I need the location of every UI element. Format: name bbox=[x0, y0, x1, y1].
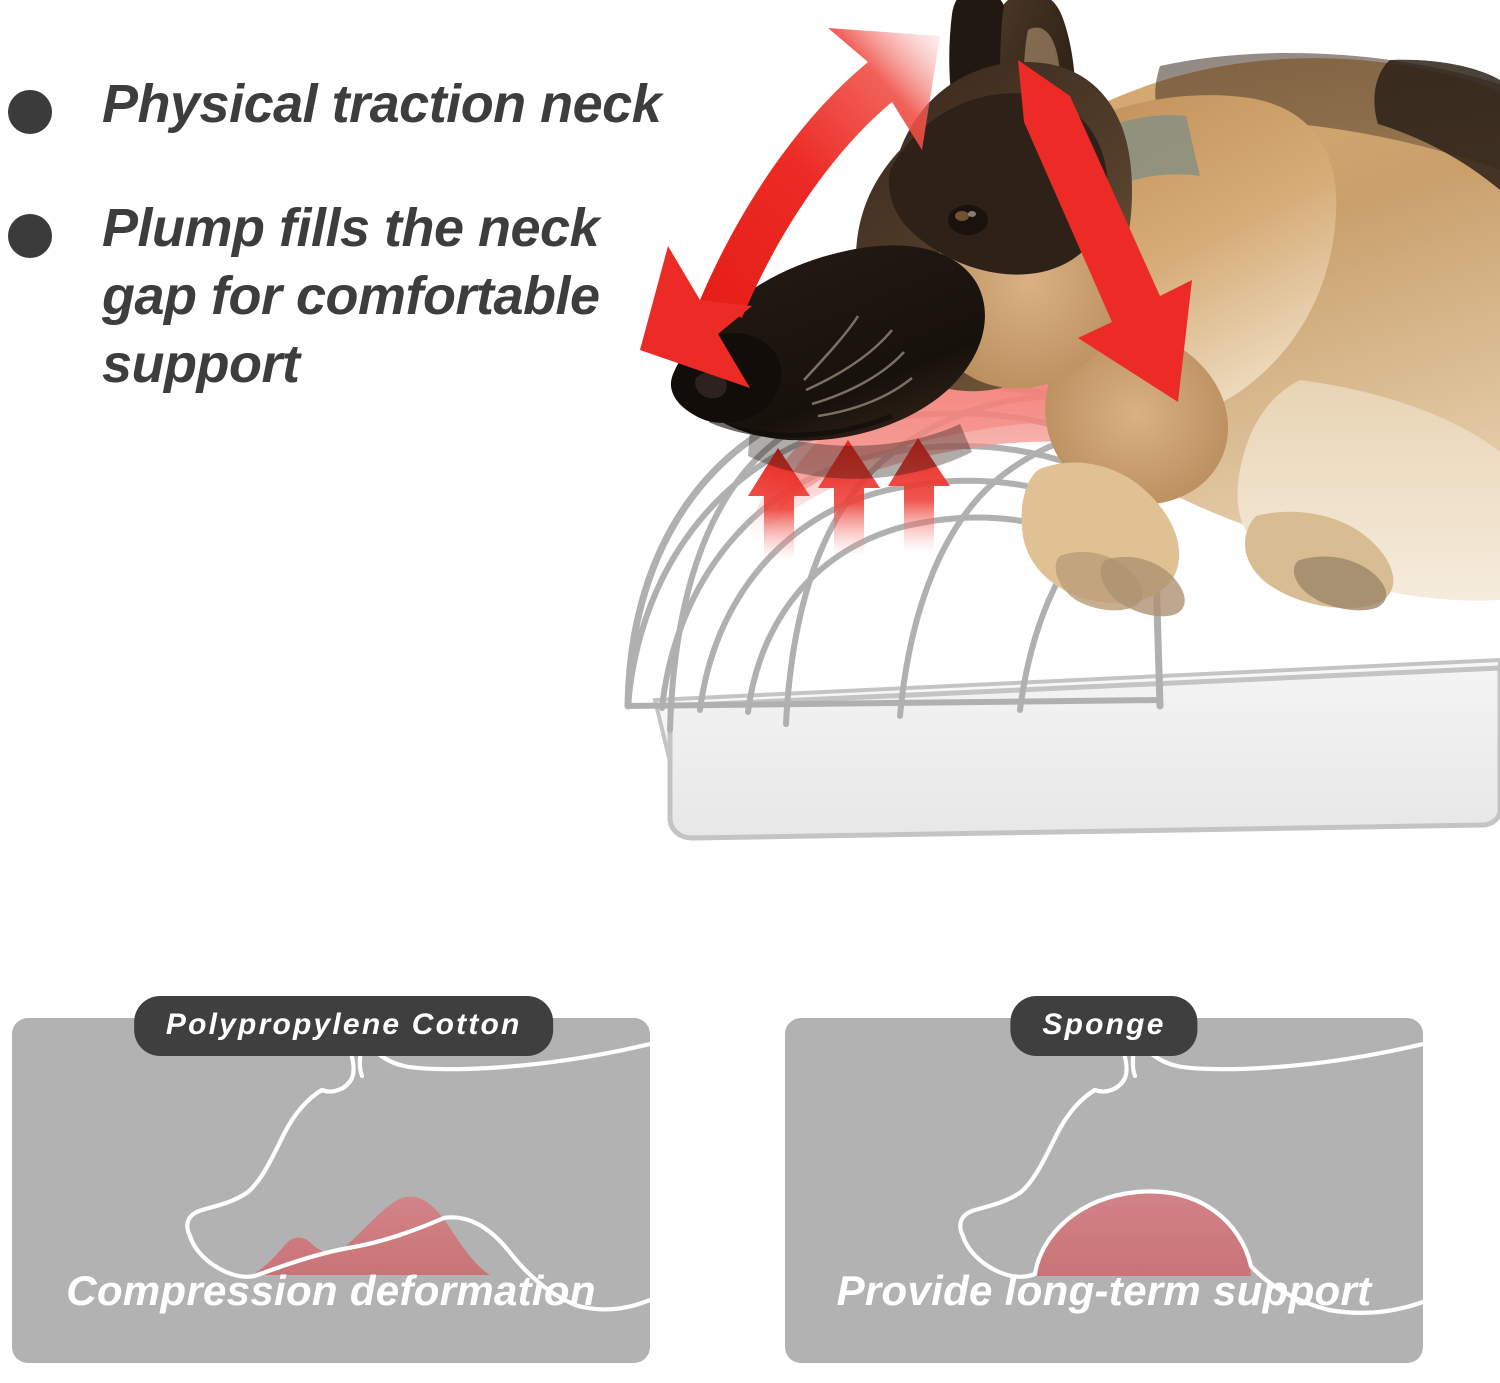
material-comparison-section: Polypropylene Cotton Compression deforma… bbox=[0, 985, 1500, 1383]
card-caption-compression-deformation: Compression deformation bbox=[12, 1267, 650, 1315]
comparison-card-polypropylene-cotton[interactable]: Polypropylene Cotton Compression deforma… bbox=[12, 1018, 650, 1363]
card-caption-long-term-support: Provide long-term support bbox=[785, 1267, 1423, 1315]
feature-bullet-label-1: Physical traction neck bbox=[102, 70, 661, 138]
product-photo-scene bbox=[600, 0, 1500, 880]
feature-bullet-list: Physical traction neck Plump fills the n… bbox=[0, 70, 700, 454]
bullet-dot-icon bbox=[8, 214, 52, 258]
dome-fill-shape bbox=[1037, 1190, 1251, 1276]
list-item: Physical traction neck bbox=[0, 70, 700, 138]
dog-bed-base bbox=[655, 660, 1500, 838]
card-badge-sponge: Sponge bbox=[1010, 996, 1197, 1056]
infographic-canvas: Physical traction neck Plump fills the n… bbox=[0, 0, 1500, 1383]
comparison-card-sponge[interactable]: Sponge Provide long-term support bbox=[785, 1018, 1423, 1363]
card-badge-polypropylene-cotton: Polypropylene Cotton bbox=[134, 996, 554, 1056]
bullet-dot-icon bbox=[8, 90, 52, 134]
list-item: Plump fills the neck gap for comfortable… bbox=[0, 194, 700, 398]
